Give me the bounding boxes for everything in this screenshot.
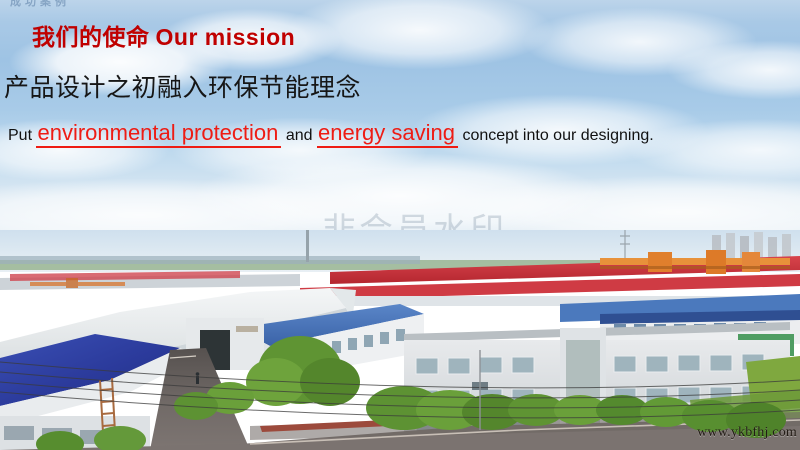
statement-tail: concept into our designing. <box>462 127 653 144</box>
statement-highlight-energy-saving: energy saving <box>317 120 458 148</box>
chimney <box>306 230 309 262</box>
statement-highlight-environmental-protection: environmental protection <box>36 120 281 148</box>
subtitle-chinese: 产品设计之初融入环保节能理念 <box>4 68 361 104</box>
page-title-chinese: 我们的使命 <box>32 24 150 50</box>
factory-photo: www.ykbfhj.com <box>0 230 800 450</box>
page-title-english: Our mission <box>156 24 296 50</box>
factory-photo-artwork <box>0 230 800 450</box>
page-title: 我们的使命Our mission <box>32 18 295 52</box>
english-statement: Put environmental protection and energy … <box>8 122 654 145</box>
website-url-stamp: www.ykbfhj.com <box>697 425 797 441</box>
pedestrian <box>196 372 200 384</box>
slide-canvas: 成功案例 我们的使命Our mission 产品设计之初融入环保节能理念 Put… <box>0 0 800 450</box>
statement-connector: and <box>286 127 313 144</box>
cutoff-top-text: 成功案例 <box>10 0 70 9</box>
statement-lead: Put <box>8 127 32 144</box>
